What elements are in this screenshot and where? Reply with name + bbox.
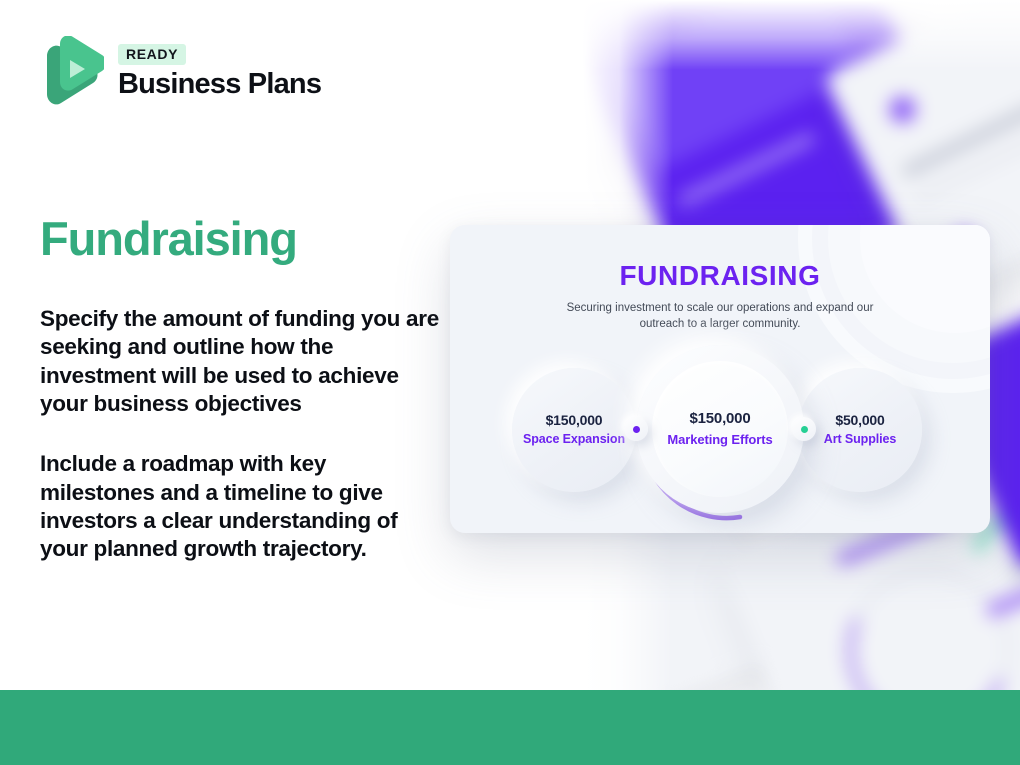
slide-title: FUNDRAISING bbox=[450, 260, 990, 292]
featured-slide-card[interactable]: FUNDRAISING Securing investment to scale… bbox=[450, 225, 990, 533]
backdrop-dot bbox=[885, 92, 920, 127]
backdrop-purple-block bbox=[605, 0, 864, 171]
connector-node-right bbox=[792, 417, 816, 441]
footer-bar bbox=[0, 690, 1020, 765]
funding-breakdown-diagram: $150,000 Space Expansion $150,000 Market… bbox=[450, 343, 990, 523]
brand-lockup: READY Business Plans bbox=[40, 36, 321, 108]
ready-badge: READY bbox=[118, 44, 186, 65]
backdrop-text-line bbox=[901, 102, 1020, 179]
paragraph-2: Include a roadmap with key milestones an… bbox=[40, 450, 440, 563]
paragraph-1: Specify the amount of funding you are se… bbox=[40, 305, 440, 418]
connector-node-left bbox=[624, 417, 648, 441]
brand-text: READY Business Plans bbox=[118, 44, 321, 101]
brand-name: Business Plans bbox=[118, 69, 321, 101]
funding-label: Space Expansion bbox=[523, 432, 625, 448]
page-title: Fundraising bbox=[40, 214, 297, 263]
funding-label: Marketing Efforts bbox=[667, 432, 772, 448]
slide-subtitle: Securing investment to scale our operati… bbox=[565, 301, 875, 332]
body-copy: Specify the amount of funding you are se… bbox=[40, 305, 440, 564]
funding-amount: $150,000 bbox=[667, 410, 772, 429]
funding-circle-marketing-efforts[interactable]: $150,000 Marketing Efforts bbox=[636, 345, 804, 513]
funding-amount: $50,000 bbox=[824, 412, 896, 430]
double-play-triangle-logo-icon bbox=[40, 36, 104, 108]
funding-amount: $150,000 bbox=[523, 412, 625, 430]
slide-canvas: READY Business Plans Fundraising Specify… bbox=[0, 0, 1020, 765]
funding-circle-space-expansion[interactable]: $150,000 Space Expansion bbox=[512, 368, 636, 492]
funding-label: Art Supplies bbox=[824, 432, 896, 448]
